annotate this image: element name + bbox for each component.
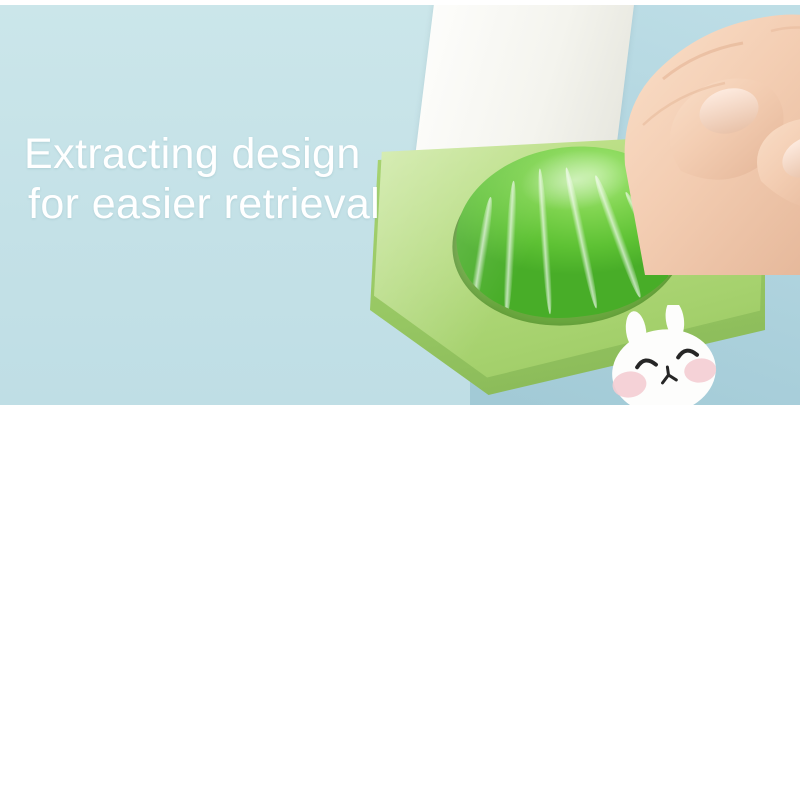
headline-line-2: for easier retrieval <box>24 180 380 228</box>
hand-pulling-sheet <box>585 5 800 275</box>
product-photo <box>330 5 800 405</box>
hero-headline: Extracting design for easier retrieval <box>24 129 380 229</box>
rabbit-mascot-icon <box>602 305 732 405</box>
product-marketing-page: Extracting design for easier retrieval u… <box>0 0 800 800</box>
hero-panel: Extracting design for easier retrieval <box>0 5 800 405</box>
usage-method-panel: usage method <box>0 405 800 800</box>
headline-line-1: Extracting design <box>24 130 361 178</box>
